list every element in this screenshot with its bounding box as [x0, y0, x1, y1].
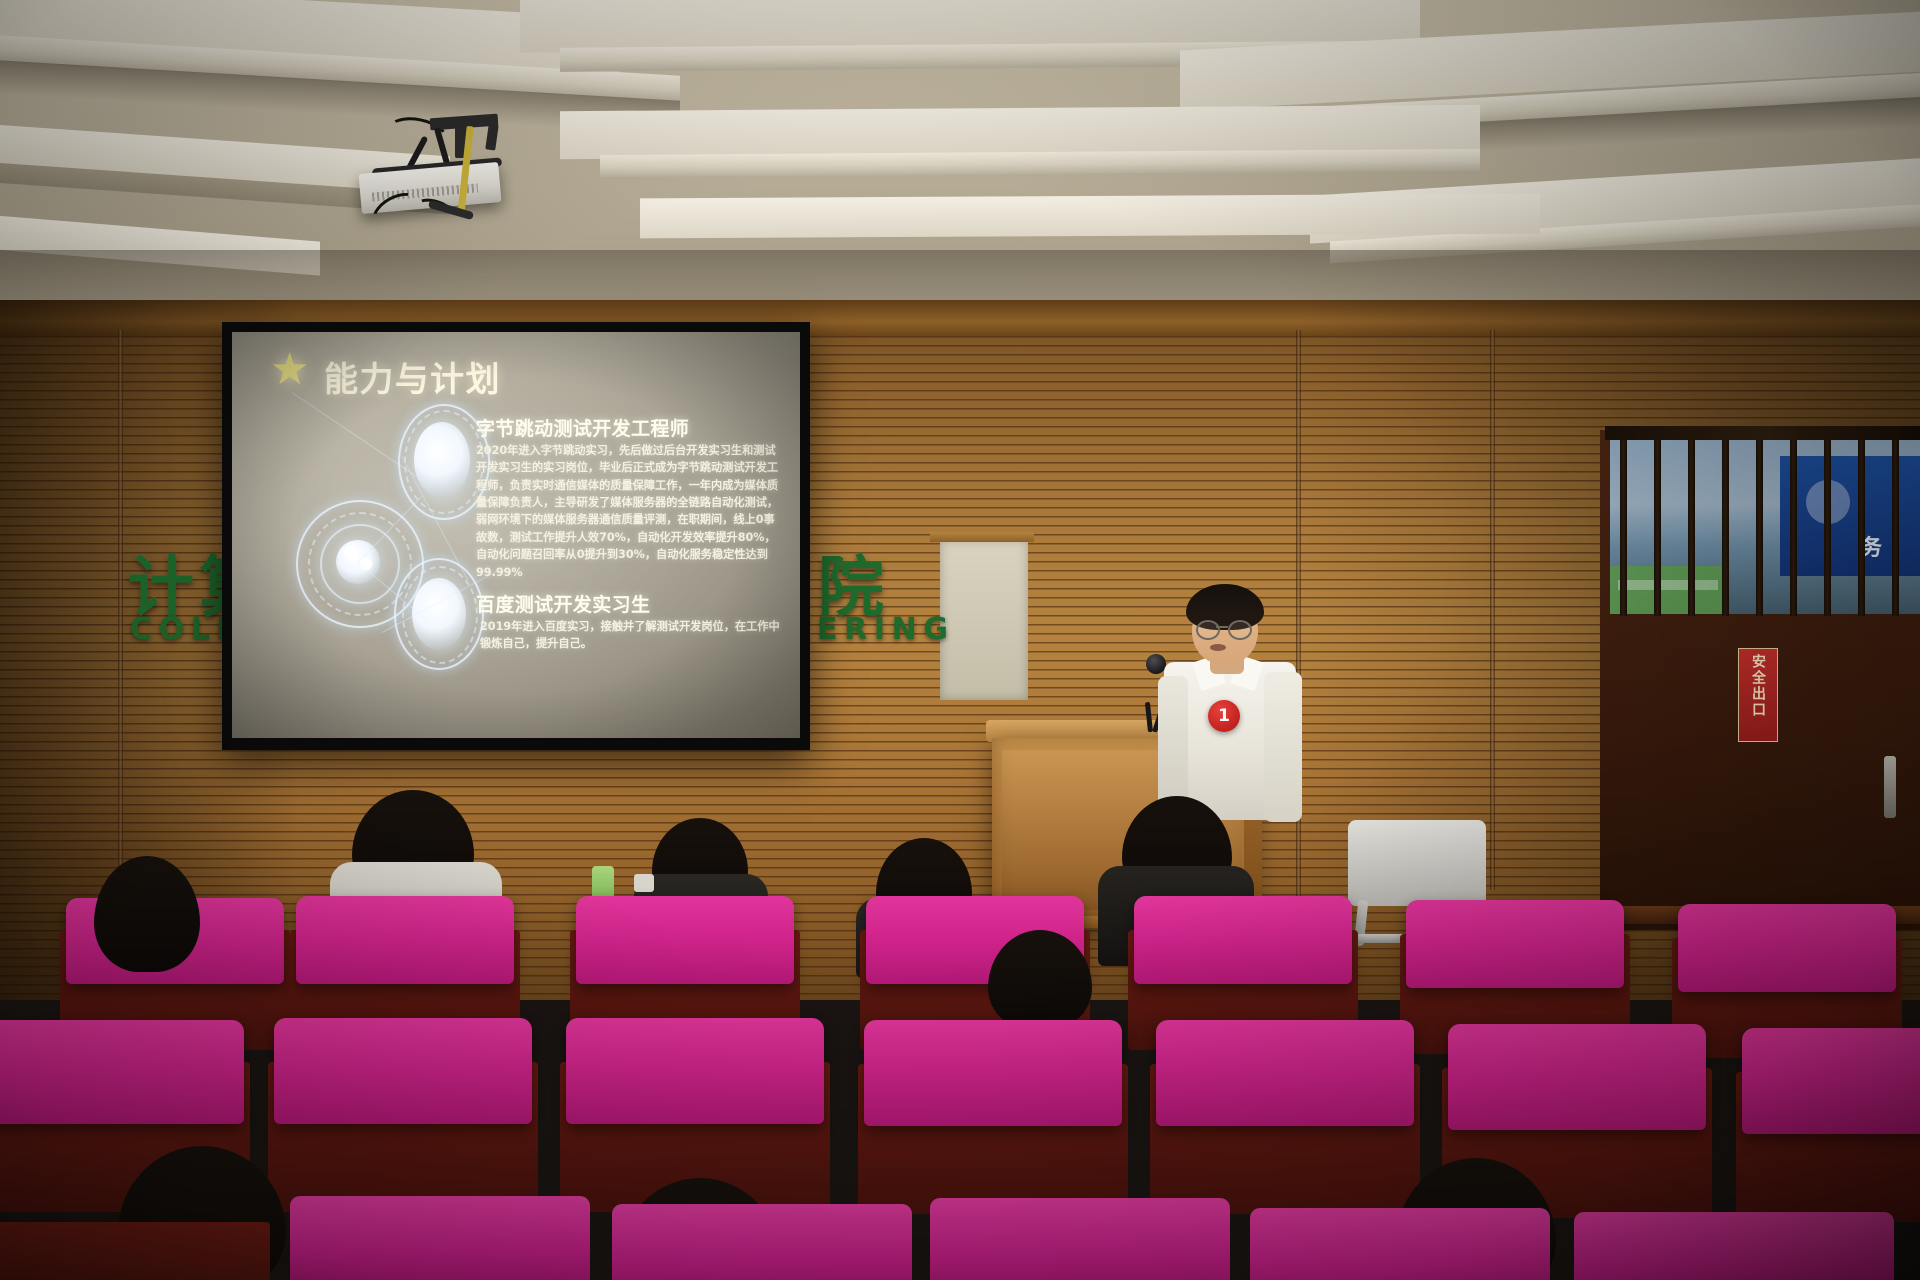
window-bar — [1688, 436, 1695, 616]
window-bar — [1892, 436, 1899, 616]
audience-seat[interactable] — [1156, 1020, 1414, 1126]
audience-seat[interactable] — [566, 1018, 824, 1124]
wall-inset-trim — [930, 532, 1034, 542]
window-bar — [1722, 436, 1729, 616]
poster-green-text — [1618, 580, 1718, 590]
audience-seat[interactable] — [1678, 904, 1896, 992]
wall-sign-english-right: EERING — [790, 612, 955, 647]
door-handle[interactable] — [1884, 756, 1896, 818]
audience-seat[interactable] — [1134, 896, 1352, 984]
paper-sheet — [634, 874, 654, 892]
audience-seat[interactable] — [1574, 1212, 1894, 1280]
eyeglasses-bridge — [1216, 626, 1228, 628]
seat-frame — [0, 1222, 270, 1280]
window-bar — [1654, 436, 1661, 616]
window-bar — [1620, 436, 1627, 616]
folding-chair-back[interactable] — [1348, 820, 1486, 906]
wall-poster-blue — [1780, 456, 1920, 576]
window-bar — [1824, 436, 1831, 616]
audience-seat[interactable] — [930, 1198, 1230, 1280]
audience-seat[interactable] — [296, 896, 514, 984]
audience-seat[interactable] — [1406, 900, 1624, 988]
audience-seat[interactable] — [1250, 1208, 1550, 1280]
audience-seat[interactable] — [612, 1204, 912, 1280]
window-bar — [1756, 436, 1763, 616]
audience-seat[interactable] — [0, 1020, 244, 1124]
speaker-right-arm — [1264, 672, 1302, 822]
lecture-hall-photo: 计算 COLLEG 院 EERING 务 安全出口 — [0, 0, 1920, 1280]
window-bar — [1858, 436, 1865, 616]
wall-panel-seam — [118, 330, 123, 930]
wall-panel-seam — [1490, 330, 1495, 890]
audience-seat[interactable] — [290, 1196, 590, 1280]
audience-seat[interactable] — [864, 1020, 1122, 1126]
speaker-left-arm — [1158, 676, 1188, 816]
window-bar — [1790, 436, 1797, 616]
audience-seat[interactable] — [1448, 1024, 1706, 1130]
window-top-rail — [1605, 426, 1920, 440]
speaker-mouth — [1210, 644, 1226, 651]
eyeglasses-icon — [1196, 620, 1220, 640]
audience-seat[interactable] — [274, 1018, 532, 1124]
microphone-head — [1146, 654, 1166, 674]
audience-seat[interactable] — [576, 896, 794, 984]
ceiling-slab — [640, 194, 1540, 239]
poster-green-banner — [1610, 566, 1728, 614]
speaker-number-badge: 1 — [1208, 700, 1240, 732]
wall-panel-seam — [1296, 330, 1301, 910]
green-water-bottle — [592, 866, 614, 900]
audience-seat[interactable] — [1742, 1028, 1920, 1134]
emergency-exit-sign-text: 安全出口 — [1748, 654, 1768, 718]
projection-screen: ★ 能力与计划 字节跳动测试开发工程师 2020年进入字节跳动实习，先后做过后台… — [232, 332, 800, 738]
eyeglasses-icon — [1228, 620, 1252, 640]
screen-vignette — [232, 332, 800, 738]
